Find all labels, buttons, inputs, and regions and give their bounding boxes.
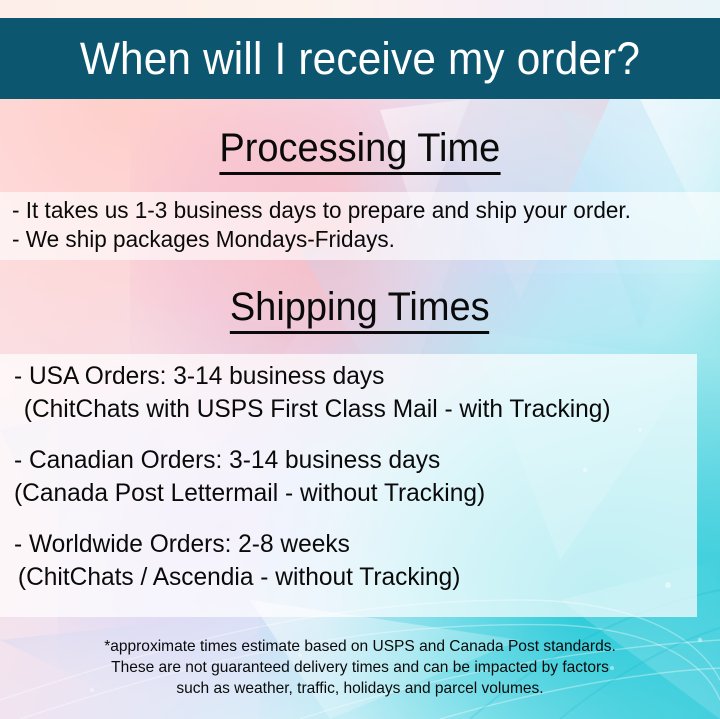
shipping-group-worldwide-detail: (ChitChats / Ascendia - without Tracking… xyxy=(14,561,683,594)
footnote: *approximate times estimate based on USP… xyxy=(0,636,720,699)
header-banner: When will I receive my order? xyxy=(0,18,720,99)
shipping-group-worldwide-title: - Worldwide Orders: 2-8 weeks xyxy=(14,528,683,561)
footnote-line-3: such as weather, traffic, holidays and p… xyxy=(11,678,709,699)
shipping-group-canada-detail: (Canada Post Lettermail - without Tracki… xyxy=(14,477,683,510)
footnote-line-2: These are not guaranteed delivery times … xyxy=(11,657,709,678)
shipping-group-usa: - USA Orders: 3-14 business days (ChitCh… xyxy=(14,360,697,426)
shipping-group-usa-detail: (ChitChats with USPS First Class Mail - … xyxy=(14,393,683,426)
shipping-times-panel: - USA Orders: 3-14 business days (ChitCh… xyxy=(0,354,697,617)
section-heading-processing-time: Processing Time xyxy=(0,128,720,175)
section-heading-shipping-times-label: Shipping Times xyxy=(230,287,490,334)
section-heading-shipping-times: Shipping Times xyxy=(0,287,720,334)
footnote-line-1: *approximate times estimate based on USP… xyxy=(11,636,709,657)
shipping-group-canada: - Canadian Orders: 3-14 business days (C… xyxy=(14,444,697,510)
shipping-group-canada-title: - Canadian Orders: 3-14 business days xyxy=(14,444,683,477)
shipping-group-worldwide: - Worldwide Orders: 2-8 weeks (ChitChats… xyxy=(14,528,697,594)
page-title: When will I receive my order? xyxy=(80,36,640,81)
shipping-group-usa-title: - USA Orders: 3-14 business days xyxy=(14,360,683,393)
section-heading-processing-time-label: Processing Time xyxy=(220,128,501,175)
processing-time-line-1: - It takes us 1-3 business days to prepa… xyxy=(12,196,706,225)
processing-time-line-2: - We ship packages Mondays-Fridays. xyxy=(12,225,706,254)
processing-time-block: - It takes us 1-3 business days to prepa… xyxy=(0,192,720,260)
shipping-info-graphic: When will I receive my order? Processing… xyxy=(0,0,720,719)
top-accent-strip xyxy=(0,0,720,18)
